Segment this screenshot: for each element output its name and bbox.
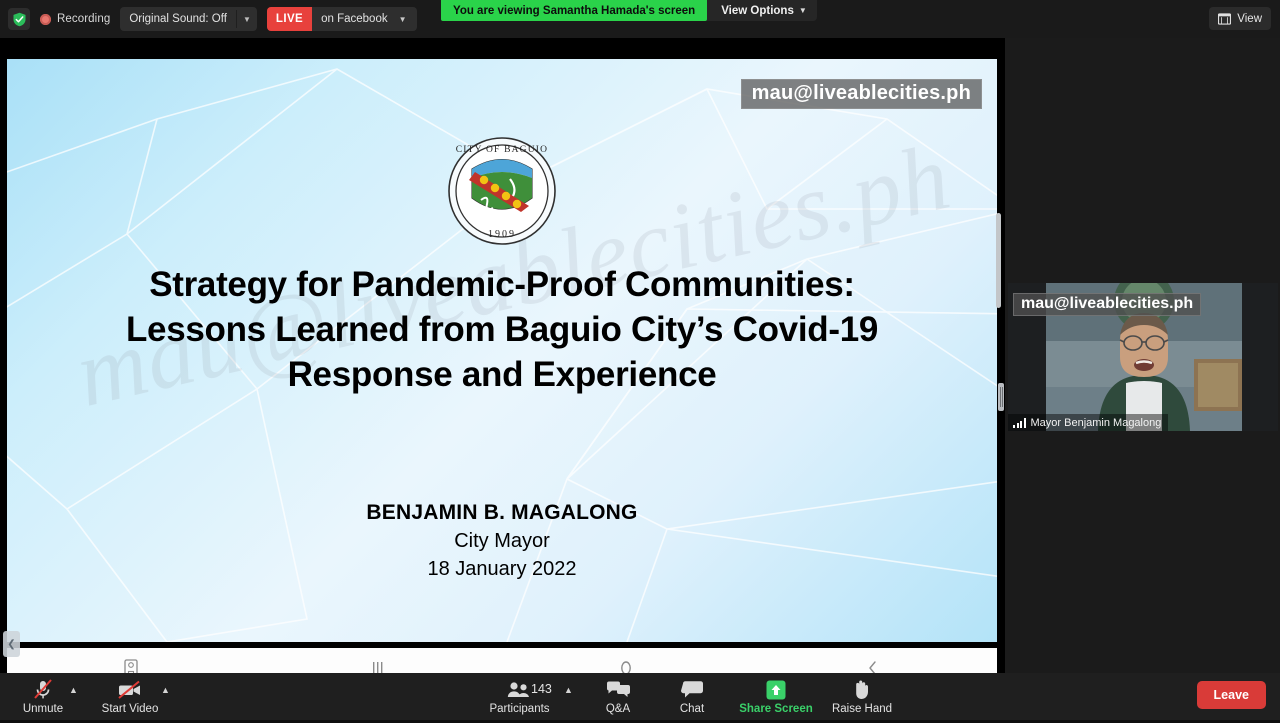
top-bar: Recording Original Sound: Off ▼ LIVE on … — [0, 0, 1280, 38]
original-sound-label: Original Sound: Off — [120, 7, 236, 31]
raise-hand-glyph — [852, 679, 872, 700]
zoom-meeting-window: Recording Original Sound: Off ▼ LIVE on … — [0, 0, 1280, 720]
audio-options-chevron-up-icon[interactable]: ▲ — [69, 685, 78, 695]
recording-label: Recording — [57, 13, 110, 25]
city-of-baguio-seal: CITY OF BAGUIO 1909 — [447, 136, 557, 246]
qa-label: Q&A — [606, 703, 630, 716]
chat-label: Chat — [680, 703, 704, 716]
speaker-name: BENJAMIN B. MAGALONG — [182, 499, 822, 527]
chevron-down-icon[interactable]: ▼ — [237, 7, 257, 31]
chevron-down-icon[interactable]: ▼ — [395, 7, 417, 31]
participant-video-tile[interactable]: mau@liveablecities.ph Mayor Benjamin Mag… — [1008, 283, 1278, 431]
participants-chevron-up-icon[interactable]: ▲ — [564, 685, 573, 695]
shared-screen-area[interactable]: mau@liveablecities.ph CITY OF BAGUIO — [0, 38, 1005, 673]
video-options-chevron-up-icon[interactable]: ▲ — [161, 685, 170, 695]
shield-check-glyph — [12, 12, 27, 27]
live-badge: LIVE — [267, 7, 312, 31]
participant-name-bar: Mayor Benjamin Magalong — [1008, 414, 1168, 431]
raise-hand-button[interactable]: Raise Hand — [826, 676, 898, 723]
slide-date: 18 January 2022 — [182, 555, 822, 583]
view-button-label: View — [1237, 13, 1262, 25]
video-watermark: mau@liveablecities.ph — [1013, 293, 1201, 316]
microphone-muted-glyph — [32, 679, 54, 700]
start-video-button[interactable]: Start Video — [97, 676, 163, 723]
meeting-toolbar: Unmute ▲ Start Video ▲ — [0, 673, 1280, 720]
participants-count: 143 — [531, 682, 552, 696]
slide-content: CITY OF BAGUIO 1909 Strategy for Pandemi… — [7, 59, 997, 642]
share-screen-up-arrow-icon — [766, 679, 786, 700]
share-screen-glyph — [766, 680, 786, 700]
audio-level-icon — [1013, 418, 1026, 428]
slide-title: Strategy for Pandemic-Proof Communities:… — [107, 262, 897, 397]
live-stream-control[interactable]: LIVE on Facebook ▼ — [267, 7, 417, 31]
start-video-label: Start Video — [102, 703, 159, 716]
share-screen-label: Share Screen — [739, 703, 813, 716]
grid-layout-icon — [1218, 13, 1231, 25]
speaker-role: City Mayor — [182, 527, 822, 555]
unmute-label: Unmute — [23, 703, 63, 716]
shared-slide-viewport: mau@liveablecities.ph CITY OF BAGUIO — [7, 59, 997, 642]
share-vertical-scrollbar[interactable] — [996, 213, 1001, 308]
chat-bubble-glyph — [681, 680, 703, 699]
raise-hand-label: Raise Hand — [832, 703, 892, 716]
video-side-panel: mau@liveablecities.ph Mayor Benjamin Mag… — [1005, 38, 1280, 673]
share-screen-button[interactable]: Share Screen — [736, 676, 816, 723]
participant-name: Mayor Benjamin Magalong — [1031, 417, 1162, 429]
svg-text:1909: 1909 — [488, 229, 516, 240]
chat-button[interactable]: Chat — [669, 676, 715, 723]
speaker-block: BENJAMIN B. MAGALONG City Mayor 18 Janua… — [182, 499, 822, 583]
unmute-button[interactable]: Unmute — [18, 676, 68, 723]
chat-bubble-icon — [681, 679, 703, 700]
participants-label: Participants — [489, 703, 549, 716]
screen-watermark-chip: mau@liveablecities.ph — [741, 79, 982, 109]
viewing-screen-bar: You are viewing Samantha Hamada's screen… — [441, 0, 817, 21]
video-off-glyph — [117, 680, 143, 700]
qa-bubbles-icon — [606, 679, 631, 700]
shield-check-icon[interactable] — [8, 8, 30, 30]
chevron-down-icon: ▼ — [799, 6, 807, 15]
viewing-screen-banner: You are viewing Samantha Hamada's screen — [441, 0, 707, 21]
qa-bubbles-glyph — [606, 680, 631, 699]
raise-hand-icon — [852, 679, 872, 700]
microphone-muted-icon — [32, 679, 54, 700]
record-dot-icon — [40, 14, 51, 25]
svg-text:CITY OF BAGUIO: CITY OF BAGUIO — [456, 145, 548, 155]
view-options-button[interactable]: View Options ▼ — [707, 0, 817, 21]
video-off-icon — [117, 679, 143, 700]
qa-button[interactable]: Q&A — [594, 676, 642, 723]
original-sound-control[interactable]: Original Sound: Off ▼ — [120, 7, 257, 31]
panel-collapse-tab[interactable]: ❮ — [3, 631, 20, 657]
share-resize-handle[interactable] — [998, 383, 1004, 411]
leave-button[interactable]: Leave — [1197, 681, 1266, 709]
top-bar-left-group: Recording Original Sound: Off ▼ LIVE on … — [8, 7, 417, 31]
view-options-label: View Options — [721, 5, 794, 17]
view-layout-button[interactable]: View — [1209, 7, 1271, 30]
live-destination-label: on Facebook — [312, 7, 395, 31]
participants-icon — [507, 679, 533, 700]
participants-glyph — [507, 681, 533, 698]
recording-indicator[interactable]: Recording — [40, 13, 110, 25]
